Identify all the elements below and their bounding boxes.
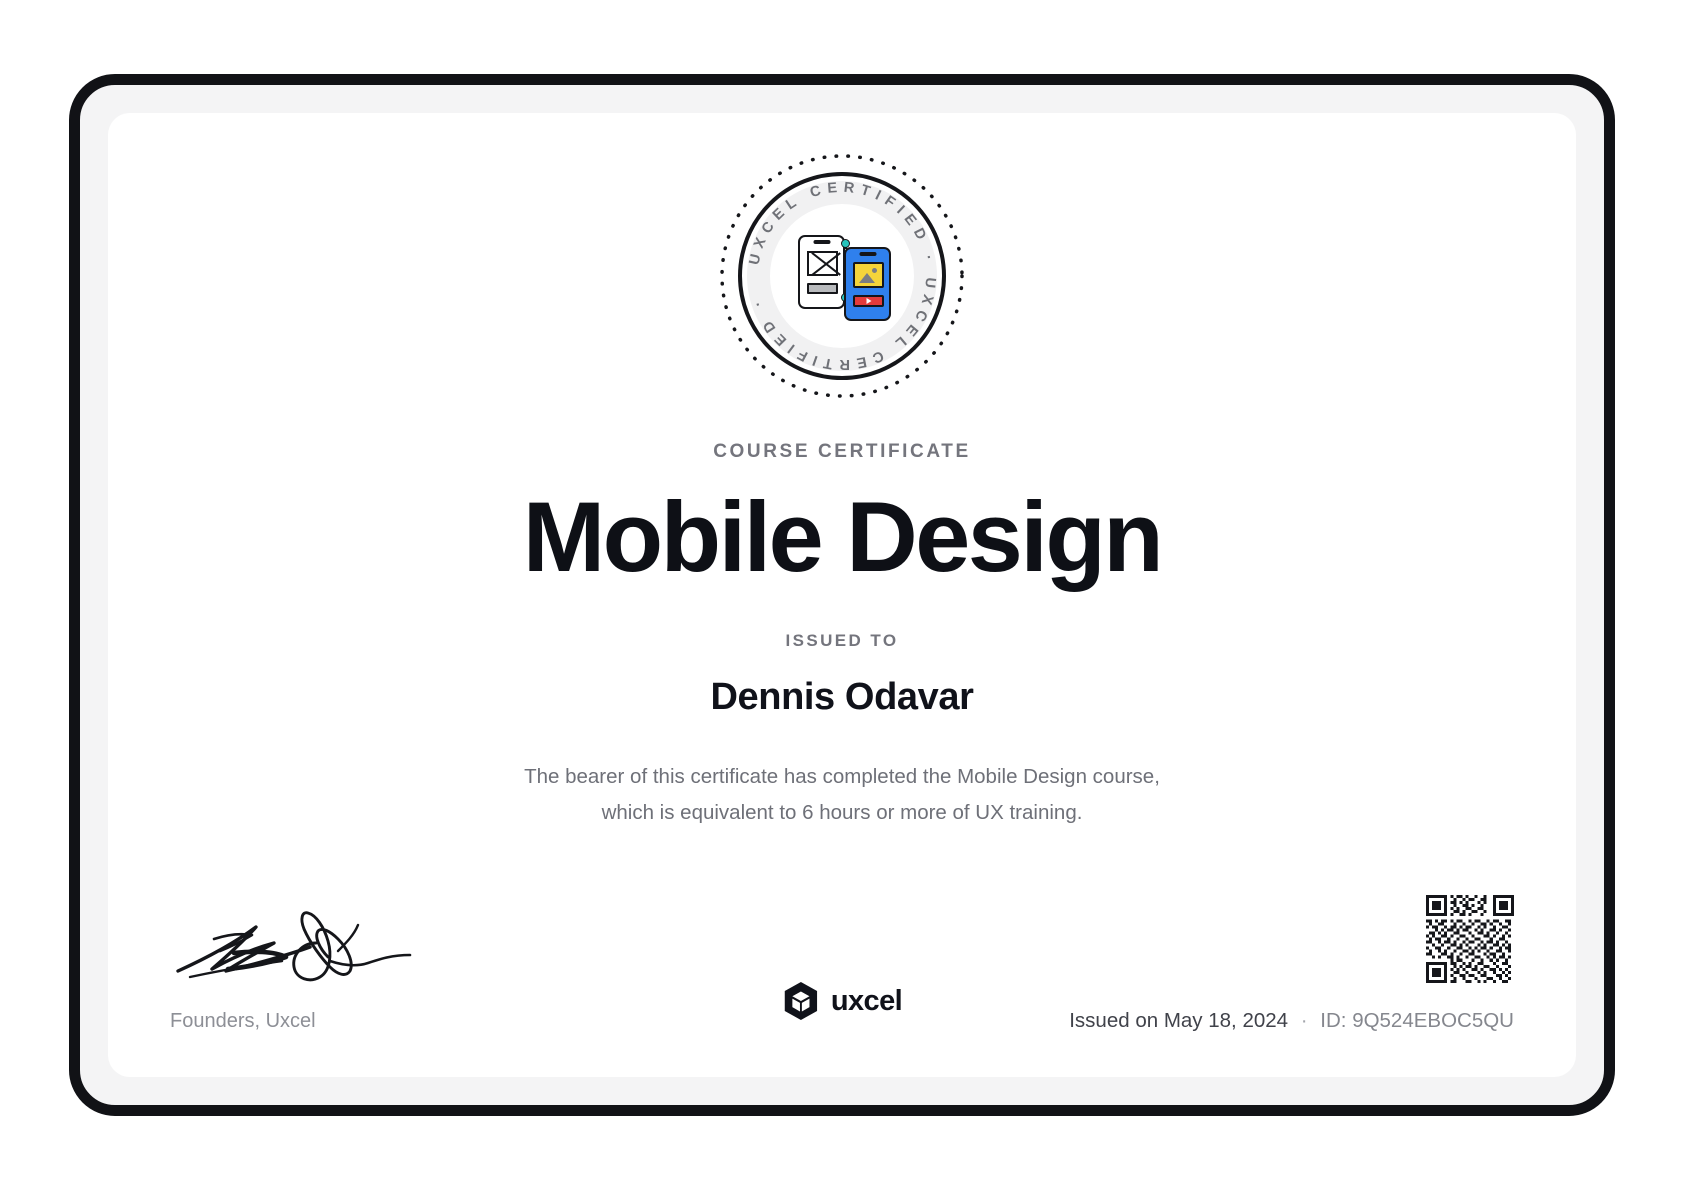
play-button-bar — [853, 295, 884, 307]
certificate-page: UXCEL CERTIFIED · UXCEL CERTIFIED · — [0, 0, 1684, 1190]
uxcel-cube-icon — [782, 981, 820, 1021]
placeholder-bar — [807, 283, 838, 294]
signature-block: Founders, Uxcel — [170, 909, 500, 1033]
uxcel-wordmark: uxcel — [831, 985, 902, 1018]
description-line-1: The bearer of this certificate has compl… — [524, 765, 1160, 788]
placeholder-image-box — [807, 251, 838, 276]
phone-notch — [813, 240, 830, 244]
certificate-card: UXCEL CERTIFIED · UXCEL CERTIFIED · — [108, 113, 1576, 1077]
mountain-shape — [859, 273, 875, 283]
meta-separator: · — [1294, 1009, 1315, 1032]
course-title: Mobile Design — [523, 485, 1162, 589]
recipient-name: Dennis Odavar — [710, 676, 973, 719]
phone-notch — [859, 252, 876, 256]
signature-caption: Founders, Uxcel — [170, 1010, 500, 1033]
wireframe-phone-icon — [798, 235, 845, 309]
certificate-meta: Issued on May 18, 2024 · ID: 9Q524EBOC5Q… — [1069, 895, 1514, 1033]
certificate-kicker: COURSE CERTIFICATE — [713, 441, 971, 463]
designed-phone-icon — [844, 247, 891, 321]
mobile-design-seal-icon — [786, 233, 898, 319]
sun-shape — [872, 268, 877, 273]
issued-on-date: Issued on May 18, 2024 — [1069, 1009, 1288, 1032]
uxcel-logo: uxcel — [782, 981, 902, 1021]
issue-details: Issued on May 18, 2024 · ID: 9Q524EBOC5Q… — [1069, 1009, 1514, 1033]
certificate-footer: Founders, Uxcel uxcel — [108, 877, 1576, 1077]
certification-seal: UXCEL CERTIFIED · UXCEL CERTIFIED · — [719, 153, 965, 399]
certificate-id: ID: 9Q524EBOC5QU — [1320, 1009, 1514, 1032]
founders-signature-icon — [170, 909, 470, 994]
qr-code-icon[interactable] — [1426, 895, 1514, 983]
certificate-description: The bearer of this certificate has compl… — [524, 759, 1160, 832]
description-line-2: which is equivalent to 6 hours or more o… — [602, 801, 1083, 824]
photo-thumbnail-icon — [853, 262, 884, 288]
issued-to-label: ISSUED TO — [786, 631, 899, 651]
certificate-frame: UXCEL CERTIFIED · UXCEL CERTIFIED · — [69, 74, 1615, 1116]
